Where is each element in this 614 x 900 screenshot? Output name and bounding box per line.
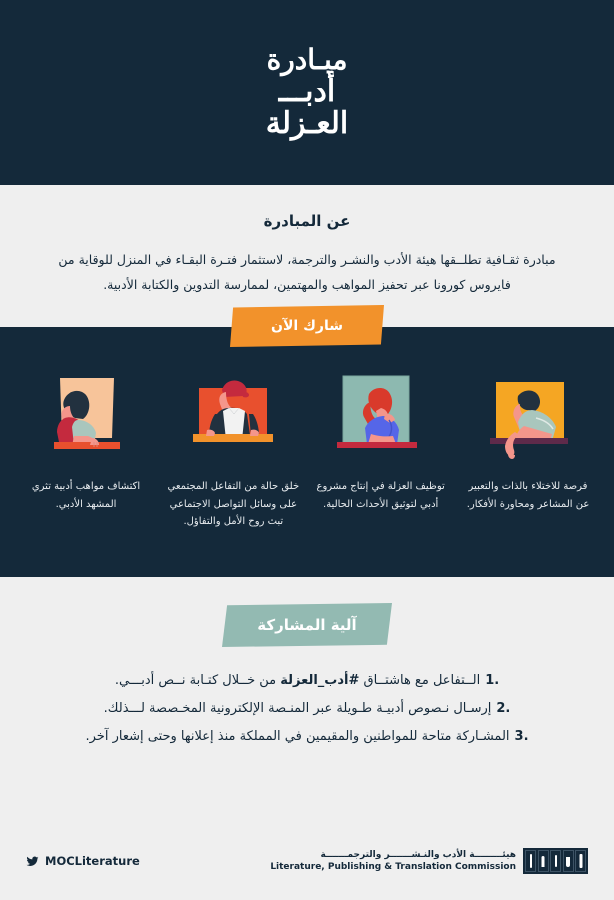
benefit-card-caption: اكتشاف مواهب أدبية تثري المشهد الأدبي. xyxy=(14,478,158,513)
commission-name-en: Literature, Publishing & Translation Com… xyxy=(270,861,516,873)
initiative-logo: مبـادرة أدبـــ العـزلة xyxy=(266,45,349,139)
poster-root: مبـادرة أدبـــ العـزلة عن المبادرة مبادر… xyxy=(0,0,614,900)
about-body: مبادرة ثقـافية تطلــقها هيئة الأدب والنش… xyxy=(52,247,562,297)
step-text: إرسـال نـصوص أدبيـة طـويلة عبر المنـصة ا… xyxy=(104,695,492,723)
commission-logo: هيئـــــــــة الأدب والنـشـــــــر والتر… xyxy=(270,848,588,874)
benefit-card-caption: خلق حالة من التفاعل المجتمعي على وسائل ا… xyxy=(161,478,305,531)
benefit-card: خلق حالة من التفاعل المجتمعي على وسائل ا… xyxy=(161,370,305,531)
step-item: 2. إرسـال نـصوص أدبيـة طـويلة عبر المنـص… xyxy=(40,695,574,723)
step-item: 1. الــتفاعل مع هاشتــاق #أدب_العزلة من … xyxy=(40,667,574,695)
step-item: 3. المشـاركة متاحة للمواطنين والمقيمين ف… xyxy=(40,723,574,751)
step-text-after: من خــلال كتـابة نــص أدبـــي. xyxy=(115,673,280,688)
participation-steps: 1. الــتفاعل مع هاشتــاق #أدب_العزلة من … xyxy=(0,649,614,751)
step-number: 1. xyxy=(485,667,499,695)
mechanism-banner-zone: آلية المشاركة xyxy=(0,577,614,649)
man-with-beret-at-window-illustration xyxy=(179,370,287,462)
participate-banner-zone: شارك الآن xyxy=(0,297,614,327)
woman-at-window-illustration xyxy=(32,370,140,462)
mechanism-banner: آلية المشاركة xyxy=(222,603,392,647)
about-title: عن المبادرة xyxy=(52,212,562,230)
about-section: عن المبادرة مبادرة ثقـافية تطلــقها هيئة… xyxy=(0,185,614,297)
step-text: المشـاركة متاحة للمواطنين والمقيمين في ا… xyxy=(86,723,510,751)
benefit-card: فرصة للاختلاء بالذات والتعبير عن المشاعر… xyxy=(456,370,600,513)
step-text: الــتفاعل مع هاشتــاق #أدب_العزلة من خــ… xyxy=(115,667,480,695)
poster-footer: MOCLiterature هيئـــــــــة الأدب والنـش… xyxy=(0,832,614,900)
step-number: 3. xyxy=(515,723,529,751)
poster-header: مبـادرة أدبـــ العـزلة xyxy=(0,0,614,185)
twitter-handle-block[interactable]: MOCLiterature xyxy=(26,854,140,868)
step-number: 2. xyxy=(496,695,510,723)
person-leaning-on-windowsill-illustration xyxy=(474,370,582,462)
woman-thinking-at-window-illustration xyxy=(327,370,435,462)
logo-line-1: مبـادرة xyxy=(267,45,348,74)
benefit-card-caption: فرصة للاختلاء بالذات والتعبير عن المشاعر… xyxy=(456,478,600,513)
commission-emblem-icon xyxy=(523,848,588,874)
logo-line-3: العـزلة xyxy=(266,108,349,140)
benefit-card: اكتشاف مواهب أدبية تثري المشهد الأدبي. xyxy=(14,370,158,513)
benefit-card: توظيف العزلة في إنتاج مشروع أدبي لتوثيق … xyxy=(309,370,453,513)
logo-line-2: أدبـــ xyxy=(279,76,335,108)
benefits-section: فرصة للاختلاء بالذات والتعبير عن المشاعر… xyxy=(0,327,614,577)
commission-text-block: هيئـــــــــة الأدب والنـشـــــــر والتر… xyxy=(270,849,516,873)
hashtag: #أدب_العزلة xyxy=(280,673,359,688)
participate-now-banner: شارك الآن xyxy=(230,305,384,347)
step-text-before: الــتفاعل مع هاشتــاق xyxy=(359,673,480,688)
commission-name-ar: هيئـــــــــة الأدب والنـشـــــــر والتر… xyxy=(320,849,516,861)
benefit-card-caption: توظيف العزلة في إنتاج مشروع أدبي لتوثيق … xyxy=(309,478,453,513)
twitter-handle-text: MOCLiterature xyxy=(45,854,140,868)
twitter-icon xyxy=(26,855,39,868)
